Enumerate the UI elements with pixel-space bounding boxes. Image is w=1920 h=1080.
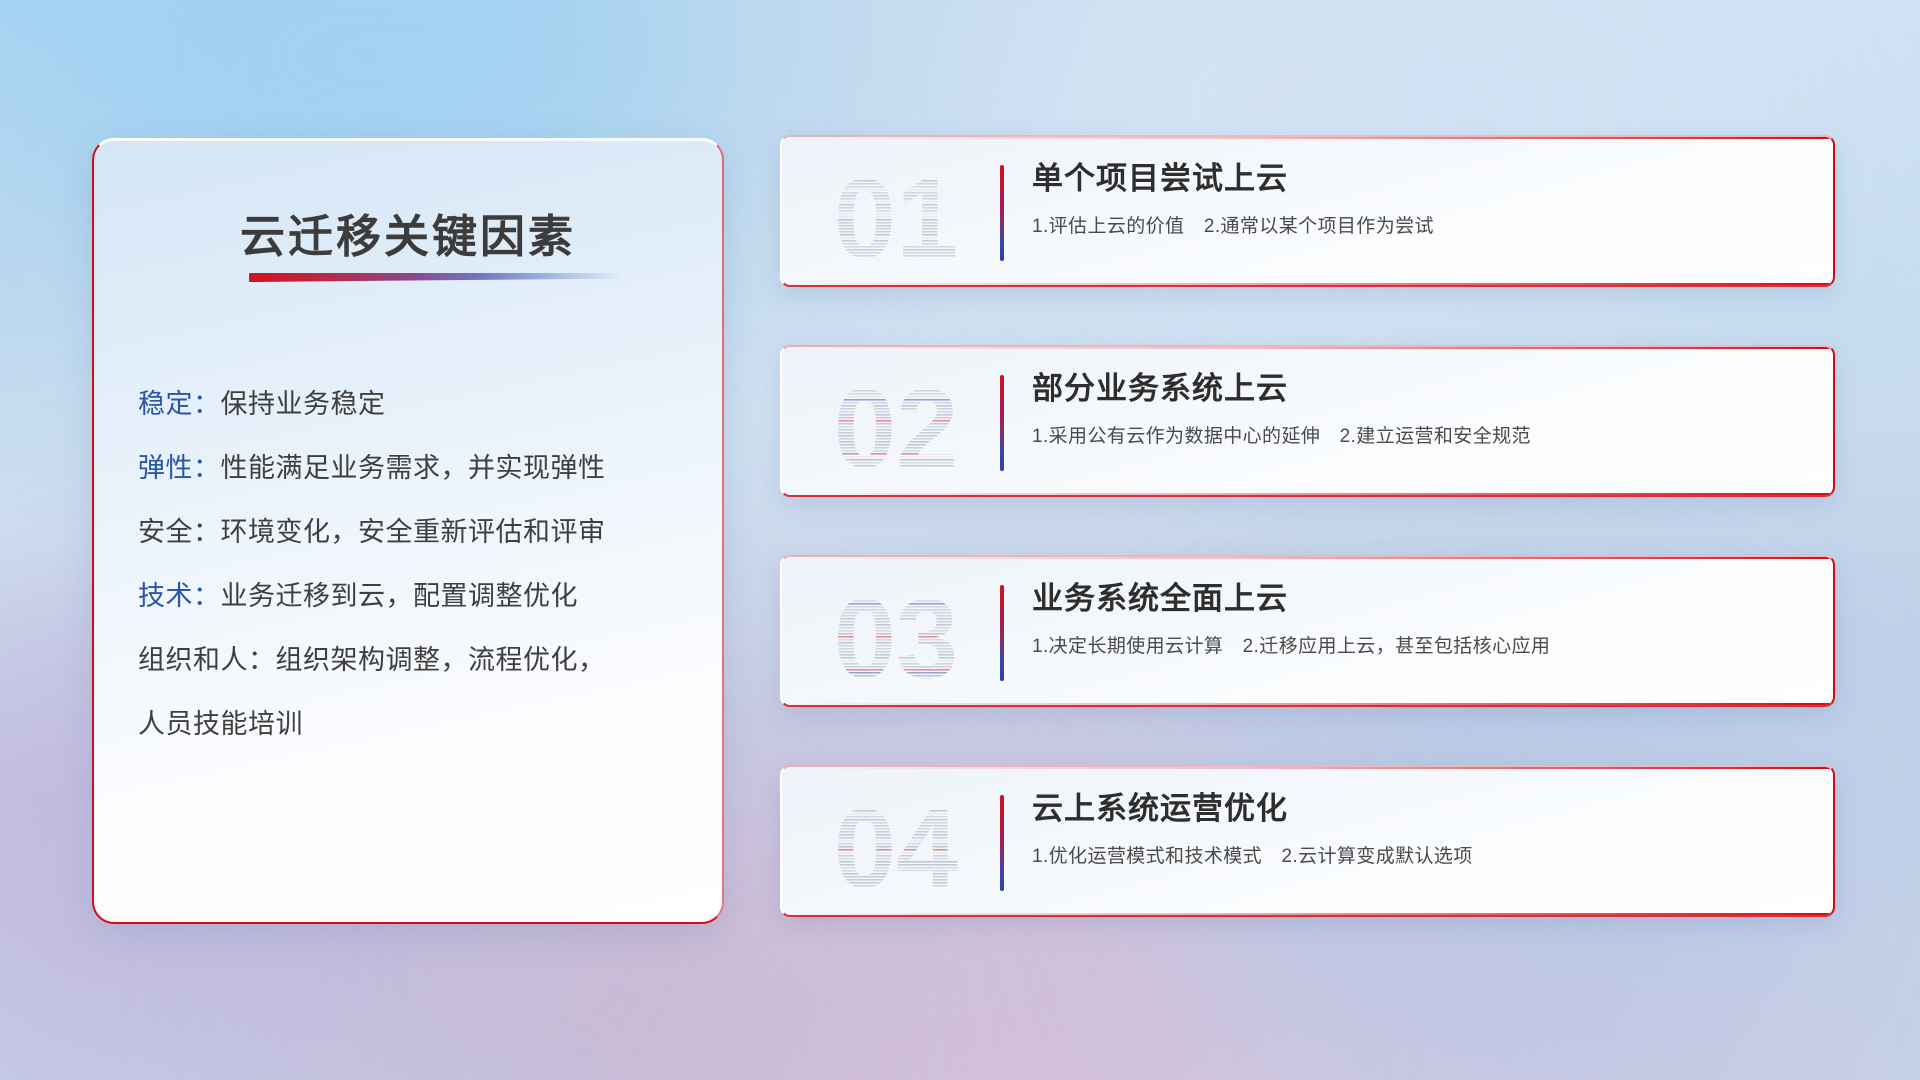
factor-row: 人员技能培训 bbox=[138, 692, 696, 756]
factor-text: 人员技能培训 bbox=[138, 709, 303, 739]
factor-row: 弹性：性能满足业务需求，并实现弹性 bbox=[138, 436, 696, 500]
accent-bar-icon bbox=[1000, 585, 1004, 681]
stage-card[interactable]: 04云上系统运营优化1.优化运营模式和技术模式 2.云计算变成默认选项 bbox=[780, 765, 1835, 917]
stage-number-glitch: 01 bbox=[810, 153, 982, 273]
factor-label: 稳定： bbox=[138, 389, 221, 419]
title-underline-rule bbox=[249, 273, 623, 282]
factor-list: 稳定：保持业务稳定弹性：性能满足业务需求，并实现弹性安全：环境变化，安全重新评估… bbox=[138, 372, 696, 756]
factor-label: 安全： bbox=[138, 517, 221, 547]
accent-bar-icon bbox=[1000, 375, 1004, 471]
stage-card-subtitle: 1.采用公有云作为数据中心的延伸 2.建立运营和安全规范 bbox=[1032, 421, 1809, 448]
stage-card[interactable]: 01单个项目尝试上云1.评估上云的价值 2.通常以某个项目作为尝试 bbox=[780, 135, 1835, 287]
factor-row: 安全：环境变化，安全重新评估和评审 bbox=[138, 500, 696, 564]
factor-text: 环境变化，安全重新评估和评审 bbox=[221, 517, 606, 547]
key-factors-panel: 云迁移关键因素 稳定：保持业务稳定弹性：性能满足业务需求，并实现弹性安全：环境变… bbox=[92, 138, 724, 924]
stage-card-title: 云上系统运营优化 bbox=[1032, 789, 1809, 829]
stage-card-list: 01单个项目尝试上云1.评估上云的价值 2.通常以某个项目作为尝试02部分业务系… bbox=[780, 135, 1835, 975]
stage-card-body: 云上系统运营优化1.优化运营模式和技术模式 2.云计算变成默认选项 bbox=[1032, 789, 1809, 868]
stage-card-title: 部分业务系统上云 bbox=[1032, 369, 1809, 409]
factor-text: 业务迁移到云，配置调整优化 bbox=[221, 581, 579, 611]
stage-card-body: 业务系统全面上云1.决定长期使用云计算 2.迁移应用上云，甚至包括核心应用 bbox=[1032, 579, 1809, 658]
slide-stage: 云迁移关键因素 稳定：保持业务稳定弹性：性能满足业务需求，并实现弹性安全：环境变… bbox=[0, 0, 1920, 1080]
stage-card[interactable]: 03业务系统全面上云1.决定长期使用云计算 2.迁移应用上云，甚至包括核心应用 bbox=[780, 555, 1835, 707]
stage-number-glitch: 04 bbox=[810, 783, 982, 903]
stage-card-subtitle: 1.评估上云的价值 2.通常以某个项目作为尝试 bbox=[1032, 211, 1809, 238]
stage-card-body: 单个项目尝试上云1.评估上云的价值 2.通常以某个项目作为尝试 bbox=[1032, 159, 1809, 238]
factor-text: 性能满足业务需求，并实现弹性 bbox=[221, 453, 606, 483]
panel-title: 云迁移关键因素 bbox=[94, 200, 722, 265]
stage-card-body: 部分业务系统上云1.采用公有云作为数据中心的延伸 2.建立运营和安全规范 bbox=[1032, 369, 1809, 448]
stage-card-title: 单个项目尝试上云 bbox=[1032, 159, 1809, 199]
factor-row: 组织和人：组织架构调整，流程优化， bbox=[138, 628, 696, 692]
stage-number-glitch: 02 bbox=[810, 363, 982, 483]
factor-row: 技术：业务迁移到云，配置调整优化 bbox=[138, 564, 696, 628]
factor-label: 弹性： bbox=[138, 453, 221, 483]
stage-card-subtitle: 1.优化运营模式和技术模式 2.云计算变成默认选项 bbox=[1032, 841, 1809, 868]
stage-card-title: 业务系统全面上云 bbox=[1032, 579, 1809, 619]
factor-text: 组织架构调整，流程优化， bbox=[276, 645, 606, 675]
stage-card[interactable]: 02部分业务系统上云1.采用公有云作为数据中心的延伸 2.建立运营和安全规范 bbox=[780, 345, 1835, 497]
factor-label: 组织和人： bbox=[138, 645, 276, 675]
stage-card-subtitle: 1.决定长期使用云计算 2.迁移应用上云，甚至包括核心应用 bbox=[1032, 631, 1809, 658]
factor-row: 稳定：保持业务稳定 bbox=[138, 372, 696, 436]
factor-label: 技术： bbox=[138, 581, 221, 611]
accent-bar-icon bbox=[1000, 795, 1004, 891]
stage-number-glitch: 03 bbox=[810, 573, 982, 693]
accent-bar-icon bbox=[1000, 165, 1004, 261]
factor-text: 保持业务稳定 bbox=[221, 389, 386, 419]
